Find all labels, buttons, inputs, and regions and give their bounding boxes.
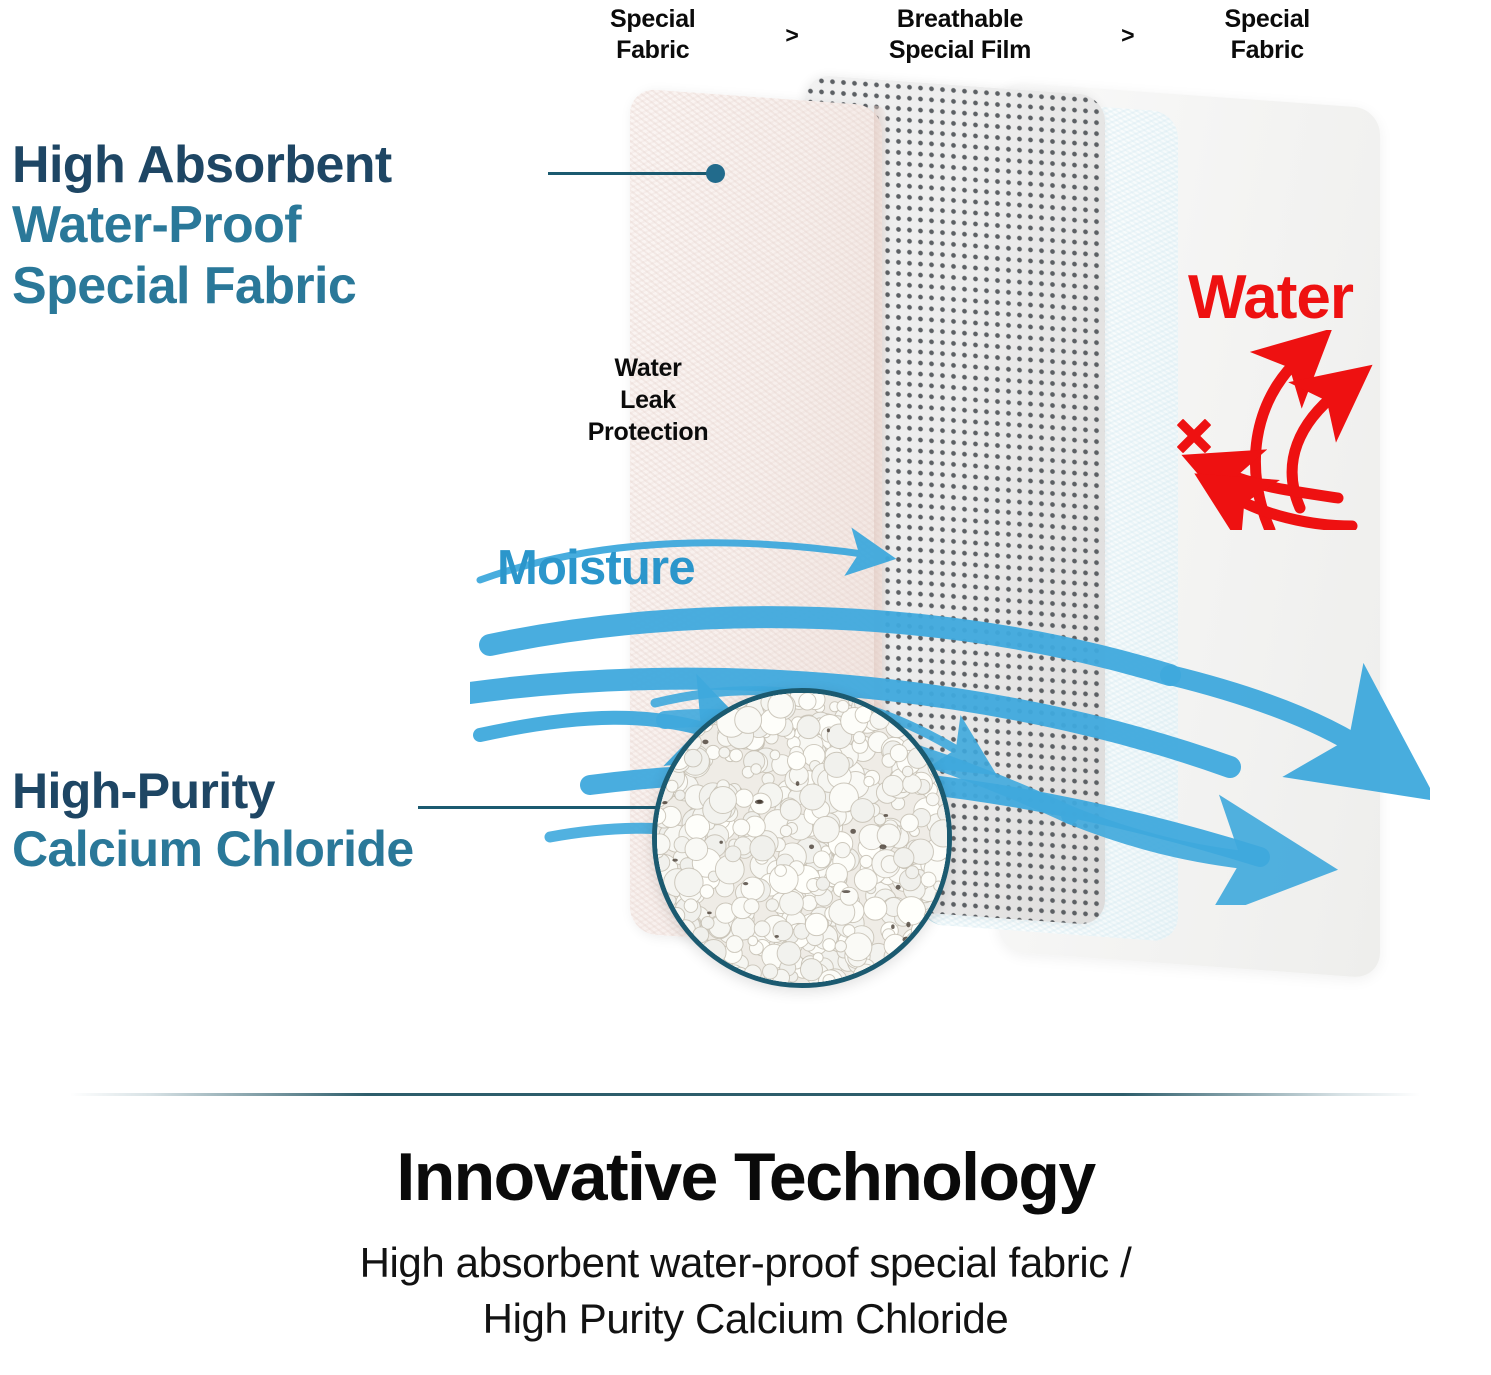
callout-high-absorbent-fabric: High Absorbent Water-Proof Special Fabri… [12,135,542,316]
layer-separator-icon-2: > [1121,4,1134,49]
bottom-section: Innovative Technology High absorbent wat… [0,1140,1491,1348]
infographic-root: Special Fabric > Breathable Special Film… [0,0,1491,1375]
calcium-chloride-beads [657,693,947,983]
layer-separator-icon: > [785,4,798,49]
callout-calcium-line1: High-Purity [12,762,592,820]
callout-fabric-line1: High Absorbent [12,135,542,195]
water-leak-protection-label: Water Leak Protection [548,352,748,448]
layer-label-special-fabric-back: Special Fabric [1225,4,1310,65]
layer-label-row: Special Fabric > Breathable Special Film… [610,4,1310,84]
connector-endpoint-dot [706,164,725,183]
layer-label-special-fabric-front: Special Fabric [610,4,695,65]
layer-label-breathable-special-film: Breathable Special Film [889,4,1031,65]
connector-line-fabric [548,172,716,175]
section-divider [70,1093,1420,1096]
water-label: Water [1188,262,1353,333]
bottom-subtitle: High absorbent water-proof special fabri… [0,1235,1491,1348]
callout-fabric-line3: Special Fabric [12,256,542,316]
calcium-chloride-zoom-circle [652,688,952,988]
moisture-label: Moisture [497,540,695,596]
callout-calcium-line2: Calcium Chloride [12,820,592,878]
callout-fabric-line2: Water-Proof [12,195,542,255]
water-blocked-x-icon [1176,418,1212,454]
callout-high-purity-calcium: High-Purity Calcium Chloride [12,762,592,878]
bottom-title: Innovative Technology [0,1140,1491,1215]
